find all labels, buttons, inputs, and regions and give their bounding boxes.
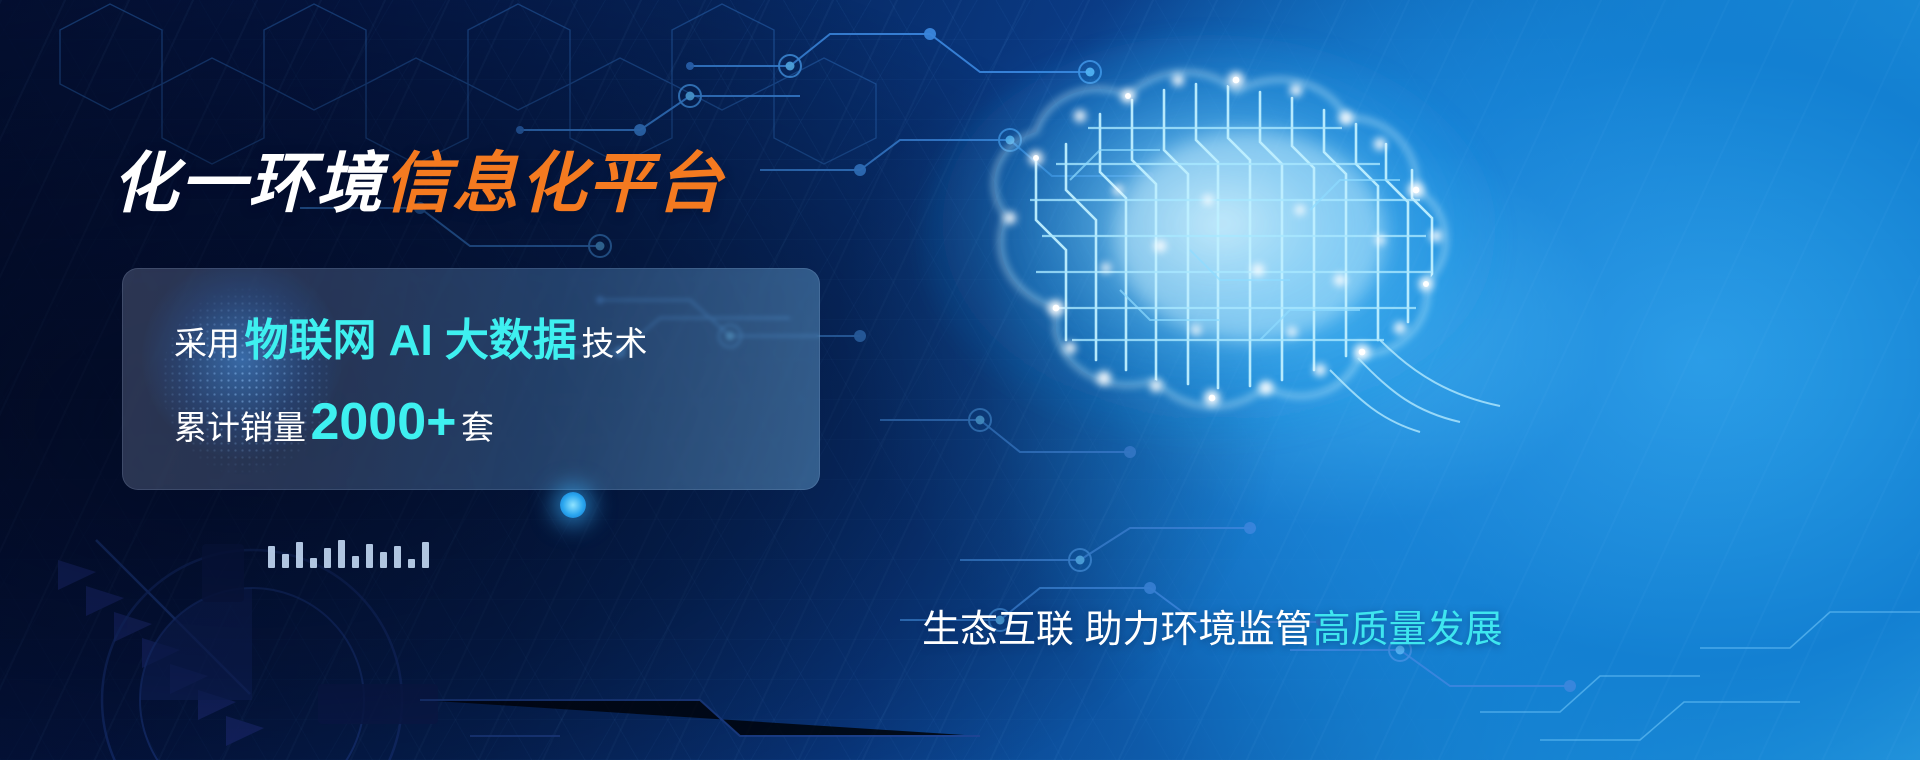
line2-highlight: 2000+ xyxy=(310,393,456,451)
tagline: 生态互联 助力环境监管高质量发展 xyxy=(922,598,1503,653)
tagline-white-part: 生态互联 助力环境监管 xyxy=(922,609,1313,651)
vertical-bars-strip xyxy=(268,540,429,568)
module-blocks xyxy=(202,544,438,724)
title-orange-part: 信息化平台 xyxy=(384,146,724,220)
tagline-cyan-part: 高质量发展 xyxy=(1313,609,1503,651)
info-card-line-1: 采用 物联网 AI 大数据 技术 xyxy=(174,304,647,368)
page-title: 化一环境信息化平台 xyxy=(112,143,724,223)
line2-prefix: 累计销量 xyxy=(174,409,306,446)
hero-banner: 化一环境信息化平台 采用 物联网 AI 大数据 技术 累计销量 2000+ 套 … xyxy=(0,0,1920,760)
title-white-part: 化一环境 xyxy=(112,146,384,220)
line1-highlight: 物联网 AI 大数据 xyxy=(244,316,576,365)
line1-suffix: 技术 xyxy=(581,325,647,362)
ai-brain-circuit-graphic xyxy=(860,40,1560,500)
info-card: 采用 物联网 AI 大数据 技术 累计销量 2000+ 套 xyxy=(122,268,820,490)
line2-suffix: 套 xyxy=(461,409,494,446)
ring-decoration xyxy=(102,550,402,760)
glowing-node-dot xyxy=(560,492,586,518)
triangle-arrow-strip xyxy=(58,560,264,746)
line1-prefix: 采用 xyxy=(174,325,240,362)
info-card-line-2: 累计销量 2000+ 套 xyxy=(174,392,494,452)
